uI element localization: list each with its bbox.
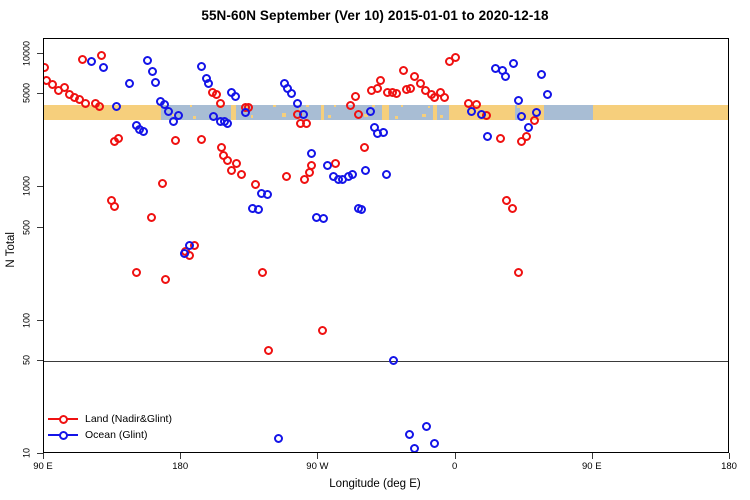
scatter-point-ocean: [254, 205, 263, 214]
scatter-point-ocean: [379, 128, 388, 137]
scatter-point-ocean: [231, 92, 240, 101]
scatter-point-ocean: [307, 149, 316, 158]
scatter-point-ocean: [501, 72, 510, 81]
scatter-point-ocean: [204, 79, 213, 88]
chart-title: 55N-60N September (Ver 10) 2015-01-01 to…: [0, 8, 750, 23]
x-tick-label: 0: [425, 461, 485, 472]
legend-marker-icon: [48, 413, 78, 425]
legend-label: Ocean (Glint): [85, 429, 147, 441]
scatter-point-ocean: [517, 112, 526, 121]
map-land-speckle: [334, 105, 336, 107]
map-land-speckle: [328, 115, 331, 118]
x-tick-label: 90 E: [13, 461, 73, 472]
scatter-point-land: [318, 326, 327, 335]
y-axis-title-text: N Total: [5, 232, 17, 268]
scatter-point-land: [78, 55, 87, 64]
x-tick-label: 90 E: [562, 461, 622, 472]
scatter-point-ocean: [348, 170, 357, 179]
chart-root: 55N-60N September (Ver 10) 2015-01-01 to…: [0, 0, 750, 500]
scatter-point-ocean: [524, 123, 533, 132]
land-ocean-map-strip: [44, 105, 728, 120]
scatter-point-land: [399, 66, 408, 75]
scatter-point-ocean: [287, 89, 296, 98]
x-tick-label: 90 W: [287, 461, 347, 472]
reference-line-y50: [44, 361, 728, 362]
y-tick-label: 10000: [20, 31, 33, 75]
scatter-point-ocean: [180, 249, 189, 258]
map-ocean-segment: [437, 105, 449, 120]
scatter-point-land: [530, 116, 539, 125]
scatter-point-land: [392, 89, 401, 98]
scatter-point-land: [251, 180, 260, 189]
chart-legend: Land (Nadir&Glint)Ocean (Glint): [48, 411, 172, 443]
legend-marker-icon: [48, 429, 78, 441]
map-land-speckle: [395, 116, 398, 119]
map-land-speckle: [190, 105, 192, 107]
scatter-point-land: [237, 170, 246, 179]
scatter-point-land: [232, 159, 241, 168]
scatter-point-land: [43, 63, 49, 72]
x-tick: [729, 453, 730, 459]
scatter-point-ocean: [99, 63, 108, 72]
scatter-point-land: [258, 268, 267, 277]
scatter-point-land: [81, 99, 90, 108]
map-land-speckle: [440, 115, 443, 118]
x-tick-label: 180: [150, 461, 210, 472]
y-tick-label: 5000: [20, 71, 33, 115]
scatter-point-land: [147, 213, 156, 222]
y-tick-label: 1000: [20, 164, 33, 208]
scatter-point-ocean: [164, 107, 173, 116]
x-tick: [180, 453, 181, 459]
scatter-point-ocean: [532, 108, 541, 117]
scatter-point-ocean: [382, 170, 391, 179]
x-tick: [317, 453, 318, 459]
map-land-speckle: [193, 116, 196, 119]
scatter-point-land: [302, 119, 311, 128]
scatter-point-land: [406, 84, 415, 93]
scatter-point-land: [373, 84, 382, 93]
scatter-point-ocean: [143, 56, 152, 65]
x-axis-title: Longitude (deg E): [0, 478, 750, 490]
scatter-point-ocean: [263, 190, 272, 199]
x-tick: [43, 453, 44, 459]
scatter-point-ocean: [543, 90, 552, 99]
scatter-point-ocean: [323, 161, 332, 170]
scatter-point-land: [282, 172, 291, 181]
scatter-point-land: [158, 179, 167, 188]
map-land-speckle: [306, 105, 309, 107]
scatter-point-ocean: [197, 62, 206, 71]
map-land-speckle: [401, 105, 403, 107]
plot-area[interactable]: [43, 38, 729, 453]
scatter-point-land: [114, 134, 123, 143]
map-ocean-segment: [544, 105, 593, 120]
legend-label: Land (Nadir&Glint): [85, 413, 172, 425]
scatter-point-land: [331, 159, 340, 168]
y-axis-title: N Total: [4, 0, 18, 500]
scatter-point-land: [264, 346, 273, 355]
scatter-point-ocean: [430, 439, 439, 448]
scatter-point-land: [351, 92, 360, 101]
scatter-point-ocean: [483, 132, 492, 141]
scatter-point-ocean: [139, 127, 148, 136]
legend-item-land[interactable]: Land (Nadir&Glint): [48, 411, 172, 427]
scatter-point-ocean: [509, 59, 518, 68]
scatter-point-ocean: [125, 79, 134, 88]
scatter-point-land: [223, 156, 232, 165]
map-land-speckle: [282, 113, 286, 117]
scatter-point-land: [508, 204, 517, 213]
scatter-point-ocean: [151, 78, 160, 87]
scatter-point-land: [496, 134, 505, 143]
scatter-point-land: [522, 132, 531, 141]
scatter-point-ocean: [112, 102, 121, 111]
scatter-point-ocean: [274, 434, 283, 443]
scatter-point-land: [171, 136, 180, 145]
scatter-point-land: [212, 90, 221, 99]
scatter-point-land: [376, 76, 385, 85]
scatter-point-ocean: [405, 430, 414, 439]
scatter-point-ocean: [87, 57, 96, 66]
scatter-point-land: [451, 53, 460, 62]
map-land-speckle: [273, 105, 276, 107]
scatter-point-ocean: [223, 119, 232, 128]
x-tick: [592, 453, 593, 459]
map-land-speckle: [251, 115, 253, 118]
map-land-speckle: [517, 105, 520, 108]
scatter-point-land: [161, 275, 170, 284]
scatter-point-land: [440, 93, 449, 102]
scatter-point-ocean: [422, 422, 431, 431]
scatter-point-land: [360, 143, 369, 152]
map-land-speckle: [428, 106, 430, 108]
scatter-point-ocean: [148, 67, 157, 76]
scatter-point-land: [197, 135, 206, 144]
scatter-point-ocean: [357, 205, 366, 214]
y-tick-label: 500: [20, 205, 33, 249]
x-tick: [455, 453, 456, 459]
scatter-point-ocean: [410, 444, 419, 453]
y-tick-label: 100: [20, 298, 33, 342]
scatter-point-land: [132, 268, 141, 277]
scatter-point-ocean: [514, 96, 523, 105]
scatter-point-ocean: [537, 70, 546, 79]
scatter-point-land: [514, 268, 523, 277]
y-tick-label: 50: [20, 338, 33, 382]
scatter-point-land: [307, 161, 316, 170]
scatter-point-land: [97, 51, 106, 60]
scatter-point-land: [216, 99, 225, 108]
scatter-point-ocean: [185, 241, 194, 250]
scatter-point-ocean: [477, 110, 486, 119]
scatter-point-land: [110, 202, 119, 211]
scatter-point-ocean: [389, 356, 398, 365]
legend-item-ocean[interactable]: Ocean (Glint): [48, 427, 172, 443]
map-land-speckle: [422, 114, 426, 117]
scatter-point-ocean: [361, 166, 370, 175]
scatter-point-ocean: [319, 214, 328, 223]
x-tick-label: 180: [699, 461, 750, 472]
